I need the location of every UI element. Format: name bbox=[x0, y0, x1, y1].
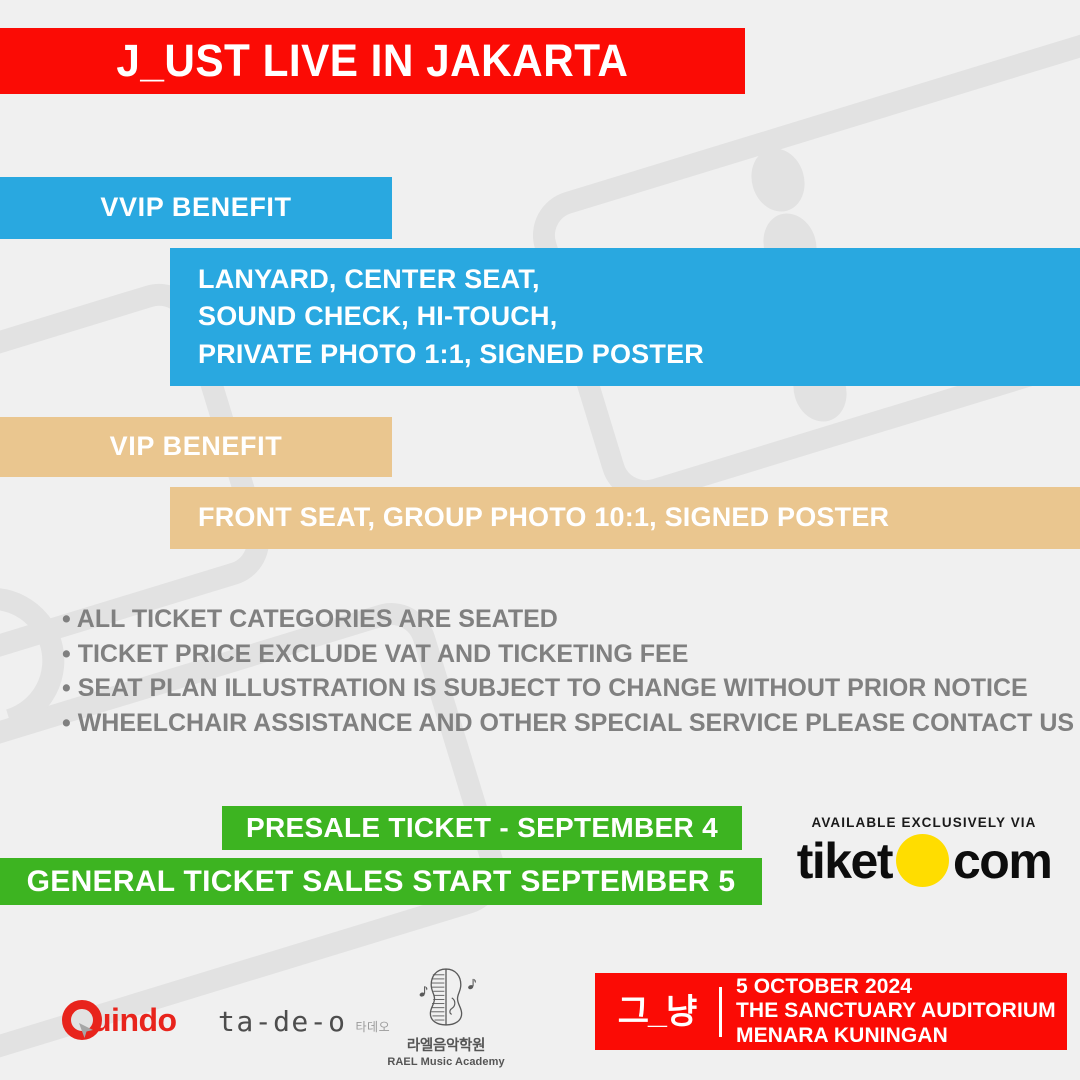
terms-note-item: • WHEELCHAIR ASSISTANCE AND OTHER SPECIA… bbox=[62, 708, 1042, 739]
vvip-benefit-list: LANYARD, CENTER SEAT, SOUND CHECK, HI-TO… bbox=[170, 248, 1080, 386]
venue-date: 5 OCTOBER 2024 bbox=[736, 975, 1056, 999]
vip-benefit-list-text: FRONT SEAT, GROUP PHOTO 10:1, SIGNED POS… bbox=[198, 502, 889, 534]
sponsor-logo-quindo: uindo bbox=[62, 1000, 177, 1040]
vip-benefit-heading-text: VIP BENEFIT bbox=[110, 431, 283, 463]
vvip-benefit-list-text: LANYARD, CENTER SEAT, SOUND CHECK, HI-TO… bbox=[198, 261, 704, 373]
ticketing-eyebrow-text: AVAILABLE EXCLUSIVELY VIA bbox=[782, 815, 1066, 830]
presale-ticket-banner: PRESALE TICKET - SEPTEMBER 4 bbox=[222, 806, 742, 850]
terms-note-item: • ALL TICKET CATEGORIES ARE SEATED bbox=[62, 604, 1042, 635]
venue-address: MENARA KUNINGAN bbox=[736, 1024, 1056, 1048]
terms-note-item: • TICKET PRICE EXCLUDE VAT AND TICKETING… bbox=[62, 639, 1042, 670]
venue-name: THE SANCTUARY AUDITORIUM bbox=[736, 999, 1056, 1023]
vip-benefit-list: FRONT SEAT, GROUP PHOTO 10:1, SIGNED POS… bbox=[170, 487, 1080, 549]
vvip-benefit-heading: VVIP BENEFIT bbox=[0, 177, 392, 239]
yellow-circle-icon bbox=[896, 834, 949, 887]
poster-canvas: J_UST LIVE IN JAKARTA VVIP BENEFIT LANYA… bbox=[0, 0, 1080, 1080]
tadeo-wordmark: ta-de-o bbox=[218, 1008, 347, 1036]
tiket-com-logo[interactable]: tiket com bbox=[782, 834, 1066, 887]
general-sales-text: GENERAL TICKET SALES START SEPTEMBER 5 bbox=[27, 864, 736, 899]
tiket-wordmark-left: tiket bbox=[797, 836, 892, 886]
venue-divider bbox=[719, 987, 722, 1037]
general-sales-banner: GENERAL TICKET SALES START SEPTEMBER 5 bbox=[0, 858, 762, 905]
poster-title-banner: J_UST LIVE IN JAKARTA bbox=[0, 28, 745, 94]
rael-english-name: RAEL Music Academy bbox=[382, 1056, 510, 1068]
ticketing-partner-block: AVAILABLE EXCLUSIVELY VIA tiket com bbox=[782, 815, 1066, 887]
tiket-wordmark-right: com bbox=[953, 836, 1051, 886]
artist-logo-korean: 그_냥 bbox=[595, 995, 719, 1029]
rael-korean-name: 라엘음악학원 bbox=[382, 1034, 510, 1055]
vip-benefit-heading: VIP BENEFIT bbox=[0, 417, 392, 477]
venue-details: 5 OCTOBER 2024 THE SANCTUARY AUDITORIUM … bbox=[736, 975, 1056, 1048]
presale-ticket-text: PRESALE TICKET - SEPTEMBER 4 bbox=[246, 811, 718, 844]
sponsor-logo-rael-music-academy: 라엘음악학원 RAEL Music Academy bbox=[382, 966, 510, 1068]
quindo-q-icon bbox=[62, 1000, 102, 1040]
violin-piano-icon bbox=[409, 1015, 483, 1032]
terms-notes-list: • ALL TICKET CATEGORIES ARE SEATED • TIC… bbox=[62, 604, 1042, 742]
venue-info-box: 그_냥 5 OCTOBER 2024 THE SANCTUARY AUDITOR… bbox=[595, 973, 1067, 1050]
sponsor-logo-tadeo: ta-de-o 타데오 bbox=[218, 1008, 390, 1036]
quindo-wordmark: uindo bbox=[92, 1004, 177, 1036]
vvip-benefit-heading-text: VVIP BENEFIT bbox=[100, 192, 291, 224]
poster-title-text: J_UST LIVE IN JAKARTA bbox=[116, 34, 628, 87]
terms-note-item: • SEAT PLAN ILLUSTRATION IS SUBJECT TO C… bbox=[62, 673, 1042, 704]
